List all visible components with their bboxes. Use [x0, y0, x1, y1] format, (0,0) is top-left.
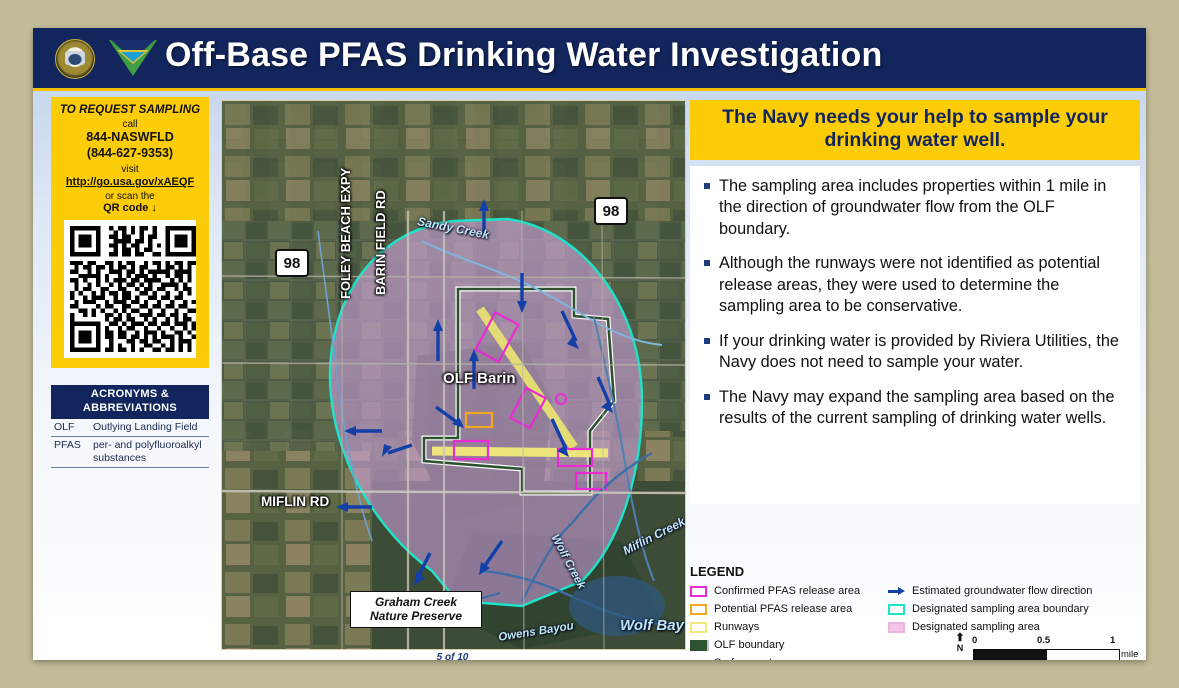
scale-bar-graphic [973, 649, 1120, 660]
highway-shield-98-west: 98 [275, 249, 309, 277]
scale-unit: mile [1121, 649, 1138, 660]
slide-header: Off-Base PFAS Drinking Water Investigati… [33, 28, 1146, 91]
legend-title: LEGEND [690, 564, 1142, 579]
acronyms-heading: ACRONYMS & ABBREVIATIONS [51, 385, 209, 419]
navy-seal-icon [55, 39, 95, 79]
legend-item: OLF boundary [690, 636, 888, 654]
qr-code-icon[interactable] [70, 226, 196, 352]
bullet-text: Although the runways were not identified… [719, 253, 1128, 318]
request-heading: TO REQUEST SAMPLING [56, 104, 204, 116]
phone-alpha[interactable]: 844-NASWFLD [56, 130, 204, 146]
bullet-list: The sampling area includes properties wi… [690, 166, 1140, 504]
swatch-sampling-area-icon [888, 622, 905, 633]
map-callout-graham-creek: Graham Creek Nature Preserve [350, 591, 482, 628]
swatch-sampling-boundary-icon [888, 604, 905, 615]
list-item: The sampling area includes properties wi… [700, 176, 1128, 241]
legend-label: Surface water [714, 657, 782, 660]
call-label: call [56, 119, 204, 130]
scan-label: or scan the [56, 191, 204, 202]
acronym-definition: Outlying Landing Field [90, 419, 209, 437]
visit-label: visit [56, 164, 204, 175]
emblem-inner-icon [121, 52, 145, 62]
acronym-abbr: OLF [51, 419, 90, 437]
legend-column-two: Estimated groundwater flow direction Des… [888, 582, 1142, 660]
map-legend: LEGEND Confirmed PFAS release area Poten… [690, 564, 1142, 660]
slide: Off-Base PFAS Drinking Water Investigati… [33, 28, 1146, 660]
qr-code-wrapper [64, 220, 196, 358]
acronym-definition: per- and polyfluoroalkyl substances [90, 436, 209, 467]
list-item: Although the runways were not identified… [700, 253, 1128, 318]
highway-shield-98-east: 98 [594, 197, 628, 225]
legend-label: Potential PFAS release area [714, 603, 852, 615]
table-row: OLF Outlying Landing Field [51, 419, 209, 437]
map-scale-bar: ⬆N 0 0.5 1 mile [955, 632, 1145, 660]
left-column: TO REQUEST SAMPLING call 844-NASWFLD (84… [40, 97, 223, 653]
sampling-request-link[interactable]: http://go.usa.gov/xAEQF [56, 176, 204, 188]
scale-tick-1: 1 [1110, 635, 1115, 646]
right-column: The Navy needs your help to sample your … [690, 100, 1140, 504]
swatch-potential-release-icon [690, 604, 707, 615]
legend-label: Estimated groundwater flow direction [912, 585, 1092, 597]
legend-label: Confirmed PFAS release area [714, 585, 860, 597]
legend-label: OLF boundary [714, 639, 784, 651]
legend-column-one: Confirmed PFAS release area Potential PF… [690, 582, 888, 660]
legend-label: Runways [714, 621, 759, 633]
list-item: The Navy may expand the sampling area ba… [700, 387, 1128, 430]
acronyms-table: ACRONYMS & ABBREVIATIONS OLF Outlying La… [51, 385, 209, 468]
bullet-marker-icon [704, 338, 710, 344]
legend-label: Designated sampling area boundary [912, 603, 1089, 615]
qr-code-label: QR code ↓ [56, 202, 204, 214]
acronym-abbr: PFAS [51, 436, 90, 467]
legend-item: Confirmed PFAS release area [690, 582, 888, 600]
bullet-marker-icon [704, 260, 710, 266]
north-arrow-icon: ⬆N [955, 634, 965, 653]
legend-item: Potential PFAS release area [690, 600, 888, 618]
aerial-map-image [222, 101, 685, 649]
page-title: Off-Base PFAS Drinking Water Investigati… [165, 36, 882, 75]
swatch-runways-icon [690, 622, 707, 633]
map-figure[interactable]: 98 98 FOLEY BEACH EXPY BARIN FIELD RD MI… [221, 100, 686, 650]
scale-tick-half: 0.5 [1037, 635, 1050, 646]
legend-item: Designated sampling area boundary [888, 600, 1142, 618]
table-row: PFAS per- and polyfluoroalkyl substances [51, 436, 209, 467]
swatch-olf-boundary-icon [690, 640, 707, 651]
bullet-text: The Navy may expand the sampling area ba… [719, 387, 1128, 430]
page-number: 5 of 10 [221, 652, 684, 660]
bullet-text: The sampling area includes properties wi… [719, 176, 1128, 241]
list-item: If your drinking water is provided by Ri… [700, 331, 1128, 374]
scale-tick-0: 0 [972, 635, 977, 646]
legend-item: Estimated groundwater flow direction [888, 582, 1142, 600]
legend-item: Runways [690, 618, 888, 636]
phone-numeric[interactable]: (844-627-9353) [56, 146, 204, 162]
legend-item: Surface water [690, 654, 888, 660]
request-sampling-box: TO REQUEST SAMPLING call 844-NASWFLD (84… [51, 97, 209, 368]
headline-banner: The Navy needs your help to sample your … [690, 100, 1140, 160]
swatch-surface-water-icon [690, 658, 707, 661]
bullet-text: If your drinking water is provided by Ri… [719, 331, 1128, 374]
swatch-groundwater-flow-arrow-icon [888, 586, 905, 597]
swatch-confirmed-release-icon [690, 586, 707, 597]
bullet-marker-icon [704, 183, 710, 189]
bullet-marker-icon [704, 394, 710, 400]
